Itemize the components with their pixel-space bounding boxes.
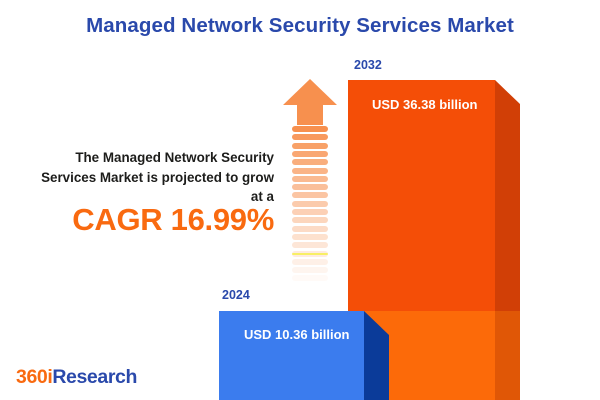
- arrow-dash: [292, 217, 328, 223]
- arrow-dash-highlight: [292, 253, 328, 255]
- arrow-dash: [292, 242, 328, 248]
- year-label-2024: 2024: [222, 288, 250, 302]
- logo-text-360i: 360i: [16, 366, 52, 388]
- statement-text: The Managed Network Security Services Ma…: [10, 148, 274, 207]
- arrow-dash: [292, 226, 328, 232]
- arrow-dash: [292, 184, 328, 190]
- value-label-2032: USD 36.38 billion: [372, 97, 477, 112]
- infographic-canvas: Managed Network Security Services Market…: [0, 0, 600, 400]
- bar-2024-side-face: [364, 311, 389, 400]
- value-label-2024: USD 10.36 billion: [244, 327, 349, 342]
- bar-2024: [219, 311, 389, 400]
- arrow-dash: [292, 159, 328, 165]
- bar-2024-front-face: [219, 311, 364, 400]
- arrow-up-head-icon: [282, 78, 338, 126]
- arrow-dash: [292, 267, 328, 273]
- arrow-dash: [292, 143, 328, 149]
- logo-text-research: Research: [52, 366, 137, 388]
- page-title: Managed Network Security Services Market: [0, 14, 600, 38]
- brand-logo: 360iResearch: [16, 366, 137, 389]
- year-label-2032: 2032: [354, 58, 382, 72]
- arrow-dash: [292, 275, 328, 281]
- arrow-dash: [292, 259, 328, 265]
- statement-line-2: Services Market is projected to grow: [10, 168, 274, 188]
- arrow-dash: [292, 168, 328, 174]
- arrow-dash: [292, 209, 328, 215]
- arrow-dash: [292, 284, 328, 290]
- arrow-dash: [292, 234, 328, 240]
- arrow-dash: [292, 134, 328, 140]
- arrow-dash: [292, 201, 328, 207]
- cagr-value: CAGR 16.99%: [10, 201, 274, 239]
- arrow-dash: [292, 126, 328, 132]
- arrow-dash: [292, 176, 328, 182]
- statement-line-1: The Managed Network Security: [10, 148, 274, 168]
- arrow-dash-column: [292, 126, 328, 293]
- bar-2032-lower-side: [495, 311, 520, 400]
- growth-arrow-icon: [282, 78, 338, 293]
- arrow-dash: [292, 151, 328, 157]
- arrow-dash: [292, 192, 328, 198]
